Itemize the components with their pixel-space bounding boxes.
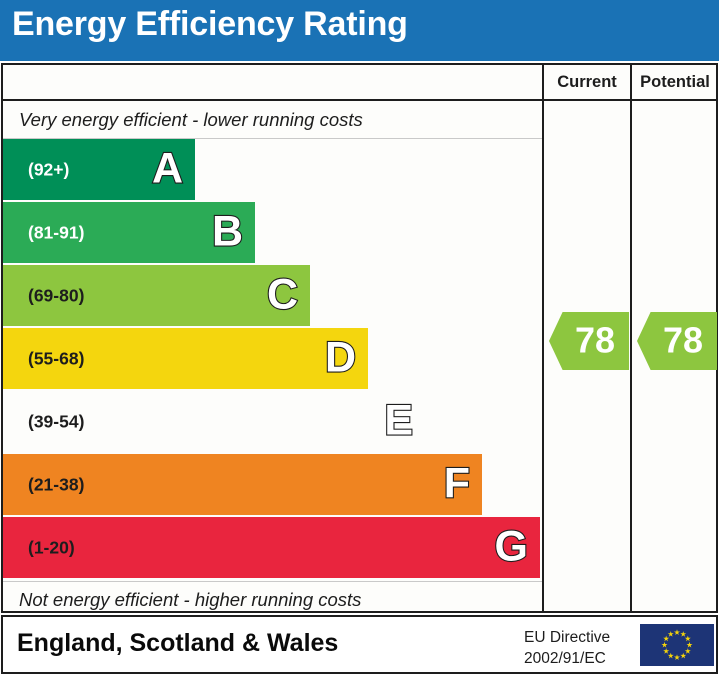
rating-band-letter-g: G	[495, 525, 528, 568]
rating-bar-a: (92+)A	[3, 139, 195, 200]
rating-bar-b: (81-91)B	[3, 202, 255, 263]
rating-band-range-e: (39-54)	[28, 411, 84, 432]
footer-directive-line1: EU Directive	[524, 628, 610, 649]
rating-band-range-c: (69-80)	[28, 285, 84, 306]
rating-band-range-d: (55-68)	[28, 348, 84, 369]
rating-band-letter-b: B	[212, 210, 243, 253]
rating-band-letter-d: D	[325, 336, 356, 379]
rating-band-letter-f: F	[444, 462, 470, 505]
rating-band-letter-c: C	[267, 273, 298, 316]
column-header-potential: Potential	[632, 73, 718, 92]
rating-bar-c: (69-80)C	[3, 265, 310, 326]
chart-footer: England, Scotland & Wales EU Directive 2…	[1, 615, 718, 674]
rating-bars: (92+)A(81-91)B(69-80)C(55-68)D(39-54)E(2…	[3, 139, 542, 581]
rating-bar-e: (39-54)E	[3, 391, 425, 452]
current-rating-value: 78	[549, 322, 629, 358]
rating-bar-d: (55-68)D	[3, 328, 368, 389]
footer-directive-label: EU Directive 2002/91/EC	[524, 628, 610, 669]
rating-bar-f: (21-38)F	[3, 454, 482, 515]
rating-table: Current Potential Very energy efficient …	[1, 63, 718, 613]
rating-bar-g: (1-20)G	[3, 517, 540, 578]
page-title: Energy Efficiency Rating	[12, 5, 408, 44]
current-rating-badge: 78	[549, 312, 629, 370]
column-divider-current	[542, 65, 544, 611]
caption-bottom-separator	[3, 581, 542, 582]
potential-rating-badge: 78	[637, 312, 717, 370]
rating-band-letter-a: A	[152, 147, 183, 190]
column-header-current: Current	[544, 73, 630, 92]
column-divider-potential	[630, 65, 632, 611]
eu-flag-icon	[640, 624, 714, 666]
footer-region-label: England, Scotland & Wales	[17, 629, 338, 658]
rating-band-range-b: (81-91)	[28, 222, 84, 243]
rating-band-range-f: (21-38)	[28, 474, 84, 495]
rating-band-range-a: (92+)	[28, 159, 69, 180]
rating-band-range-g: (1-20)	[28, 537, 75, 558]
rating-band-letter-e: E	[384, 399, 413, 442]
potential-rating-value: 78	[637, 322, 717, 358]
chart-title-bar: Energy Efficiency Rating	[0, 0, 719, 61]
footer-directive-line2: 2002/91/EC	[524, 649, 610, 670]
caption-very-efficient: Very energy efficient - lower running co…	[19, 109, 363, 131]
caption-not-efficient: Not energy efficient - higher running co…	[19, 589, 361, 611]
epc-energy-efficiency-rating-chart: Energy Efficiency Rating Current Potenti…	[0, 0, 719, 675]
